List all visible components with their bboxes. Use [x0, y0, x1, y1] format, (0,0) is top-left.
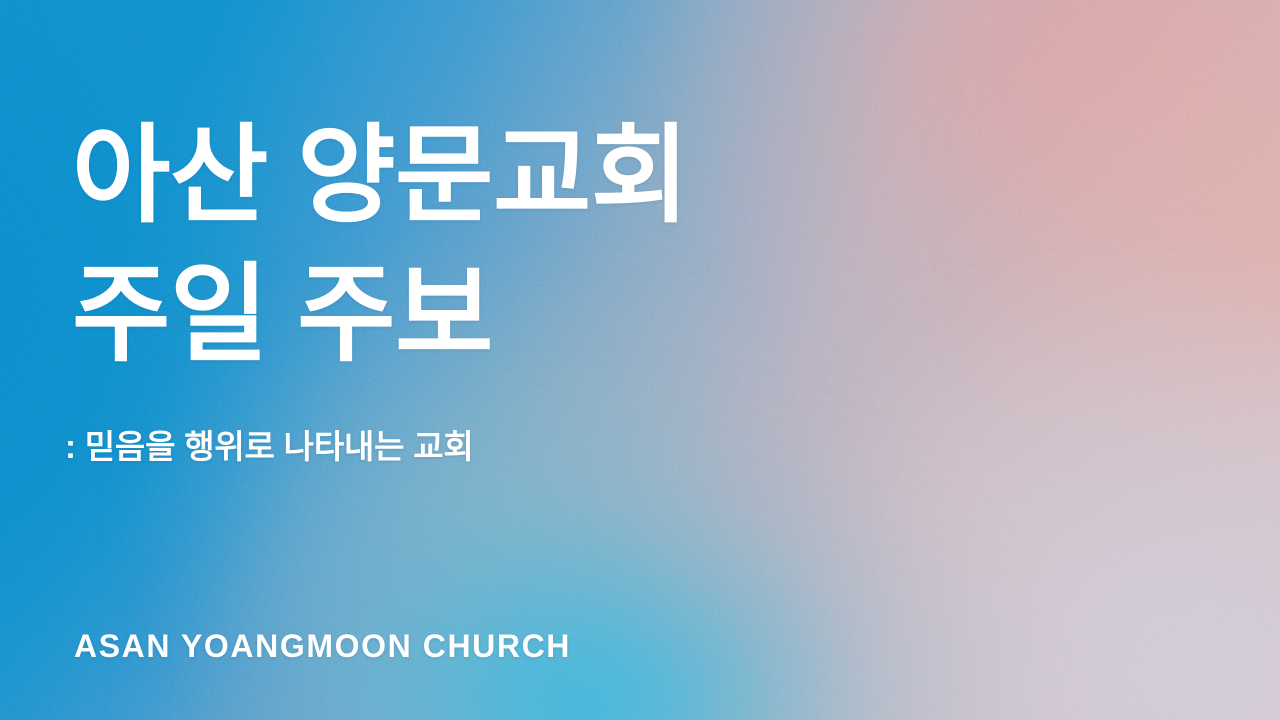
- footer-brand-name: ASAN YOANGMOON CHURCH: [74, 626, 571, 666]
- cover-slide: 아산 양문교회 주일 주보 : 믿음을 행위로 나타내는 교회 ASAN YOA…: [0, 0, 1280, 720]
- slide-title: 아산 양문교회 주일 주보: [72, 106, 972, 384]
- slide-content: 아산 양문교회 주일 주보 : 믿음을 행위로 나타내는 교회 ASAN YOA…: [0, 0, 1280, 720]
- slide-subtitle: : 믿음을 행위로 나타내는 교회: [65, 425, 474, 470]
